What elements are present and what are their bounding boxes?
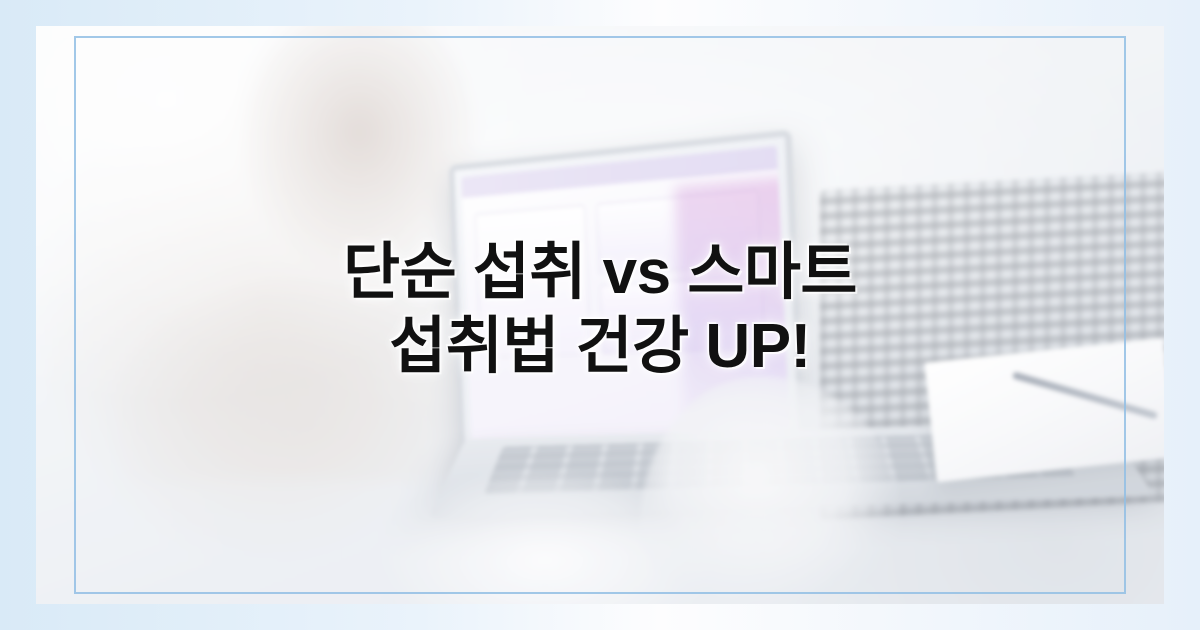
background-photo <box>0 0 1200 630</box>
photo-soft-overlay <box>0 0 1200 630</box>
thumbnail-image: 단순 섭취 vs 스마트 섭취법 건강 UP! <box>0 0 1200 630</box>
